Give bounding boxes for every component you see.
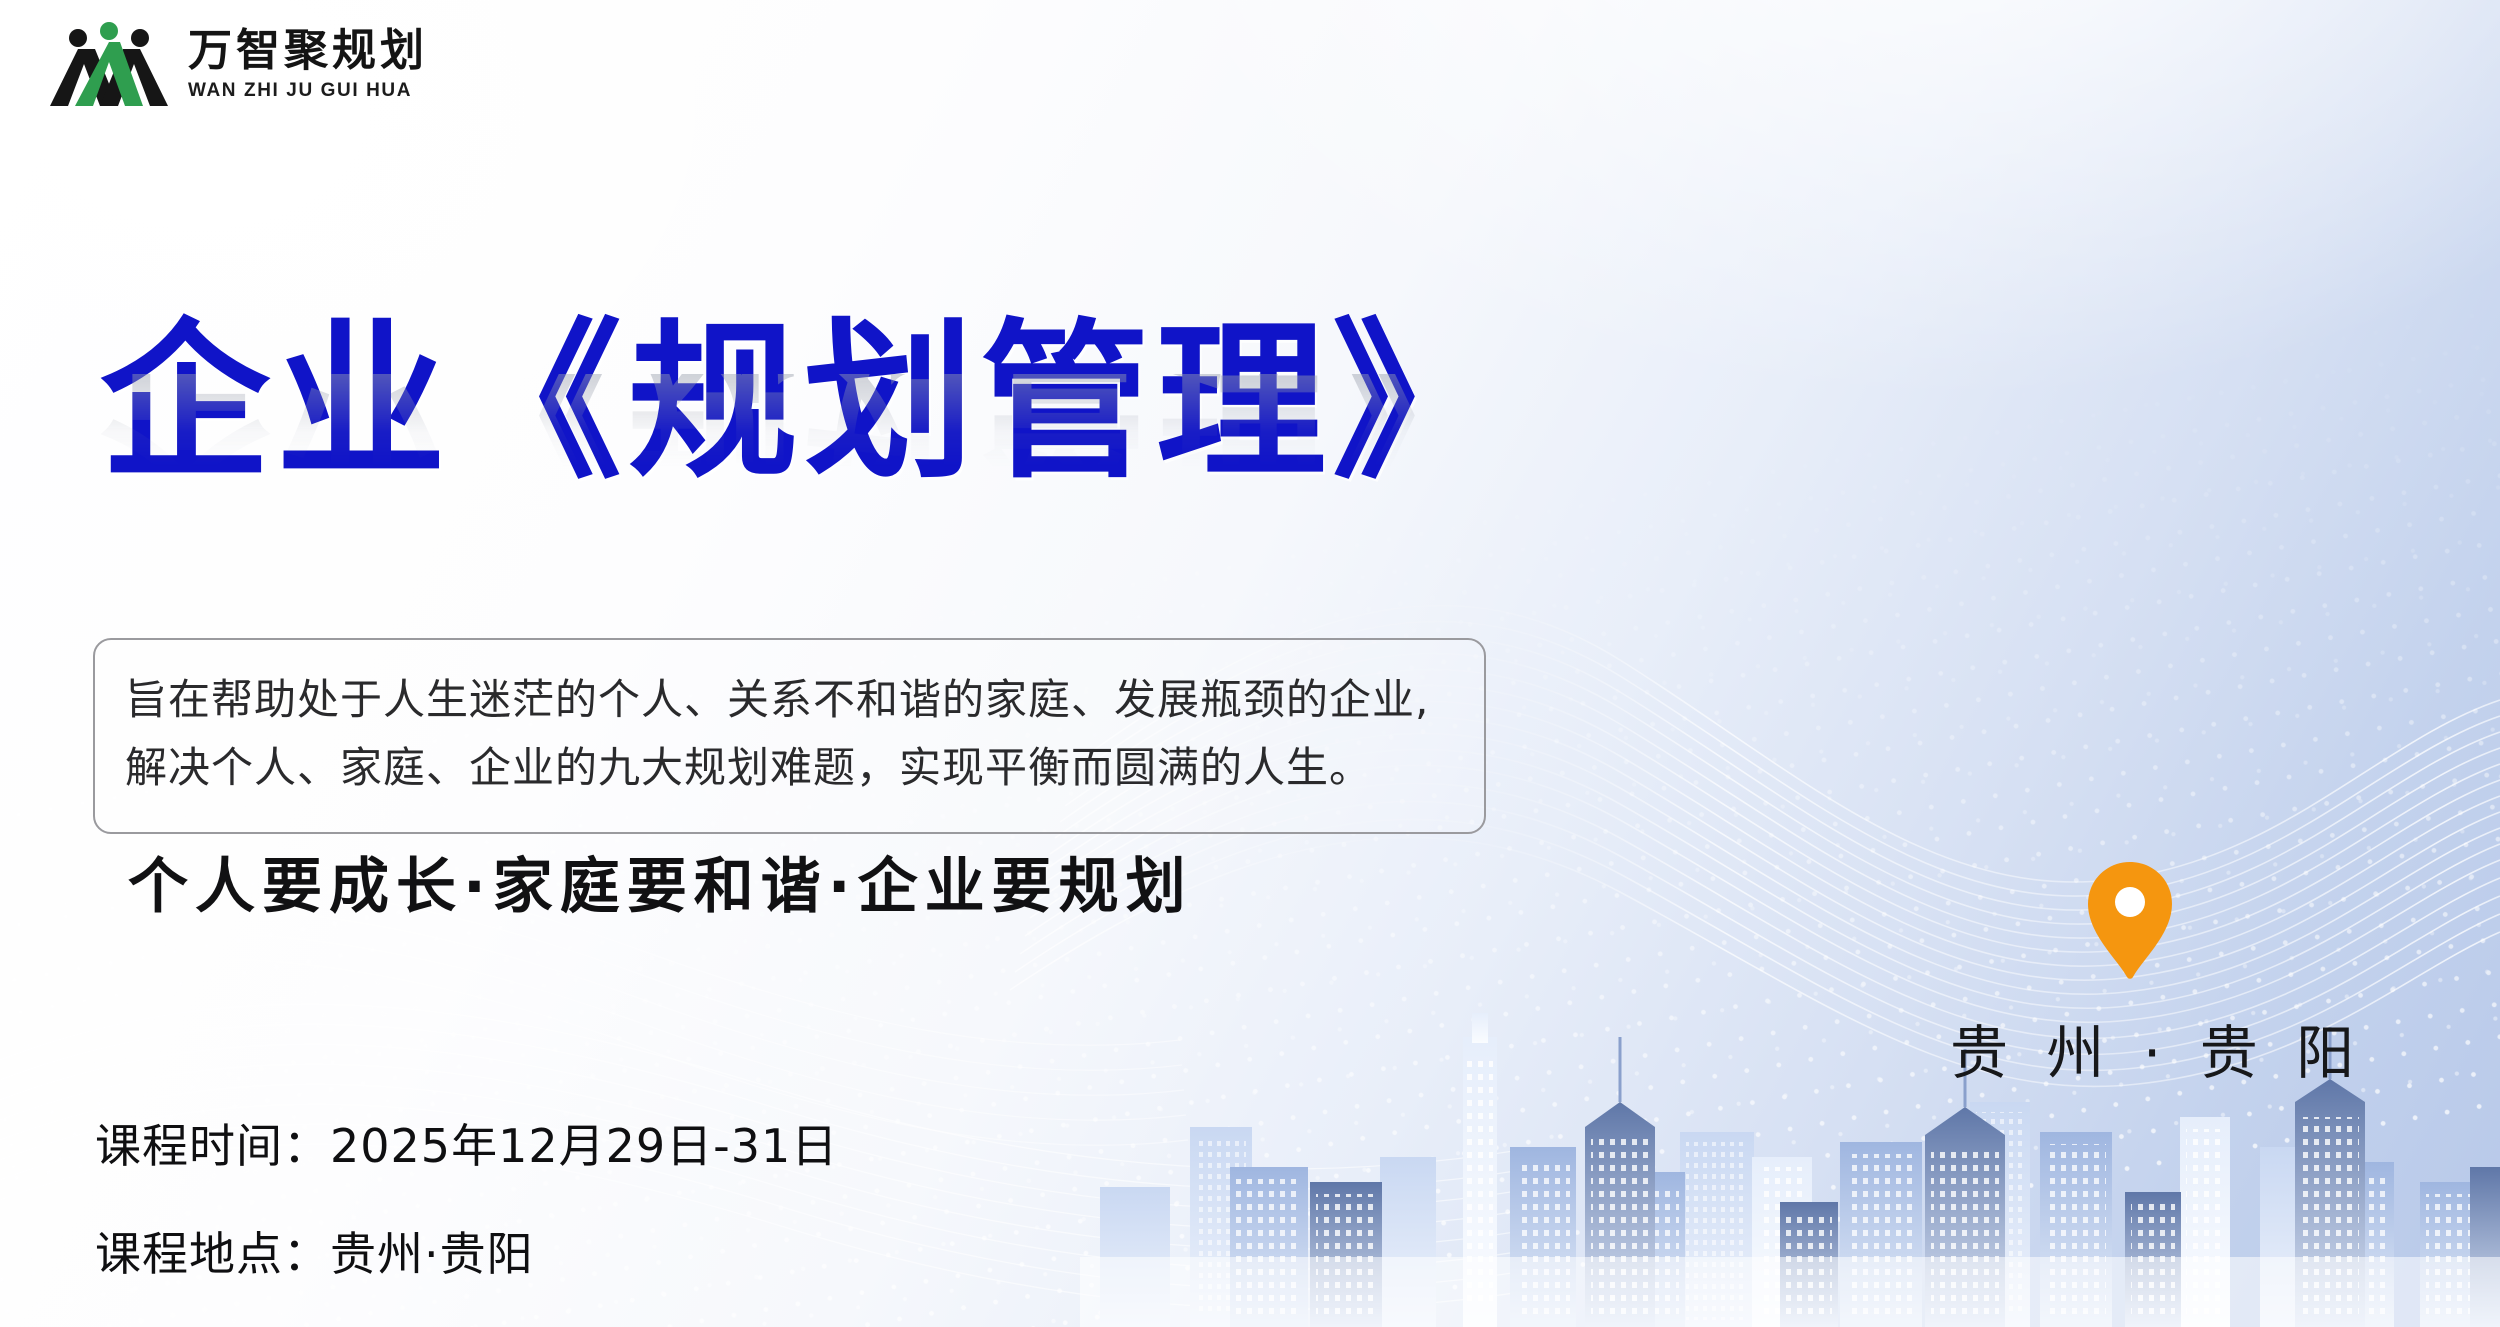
brand-name-pinyin: WAN ZHI JU GUI HUA <box>188 81 428 100</box>
course-time: 课程时间：2025年12月29日-31日 <box>95 1110 838 1176</box>
description-line-2: 解决个人、家庭、企业的九大规划难题，实现平衡而圆满的人生。 <box>125 734 1454 802</box>
description-line-1: 旨在帮助处于人生迷茫的个人、关系不和谐的家庭、发展瓶颈的企业, <box>125 666 1454 734</box>
brand-logo[interactable]: 万智聚规划 WAN ZHI JU GUI HUA <box>48 18 428 110</box>
location-label: 贵 州 · 贵 阳 <box>1950 1006 2310 1090</box>
hero-title-block: 企业《规划管理》 企业《规划管理》 <box>100 318 1660 614</box>
tagline: 个人要成长·家庭要和谐·企业要规划 <box>128 838 1193 925</box>
three-people-m-logo-icon <box>48 18 170 110</box>
course-place: 课程地点：贵州·贵阳 <box>95 1218 838 1284</box>
map-pin-icon <box>2082 860 2178 980</box>
promo-poster: 万智聚规划 WAN ZHI JU GUI HUA 企业《规划管理》 企业《规划管… <box>0 0 2500 1327</box>
location-block: 贵 州 · 贵 阳 <box>1950 860 2310 1090</box>
description-box: 旨在帮助处于人生迷茫的个人、关系不和谐的家庭、发展瓶颈的企业, 解决个人、家庭、… <box>93 638 1486 834</box>
course-info-block: 课程时间：2025年12月29日-31日 课程地点：贵州·贵阳 <box>95 1110 838 1284</box>
page-title-reflection: 企业《规划管理》 <box>100 374 1660 494</box>
brand-name-cn: 万智聚规划 <box>188 29 428 73</box>
